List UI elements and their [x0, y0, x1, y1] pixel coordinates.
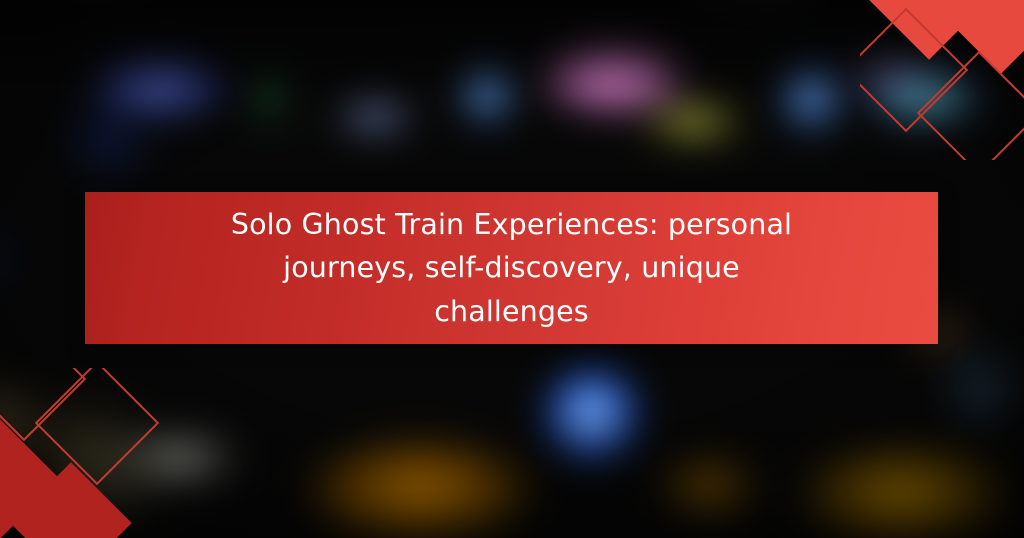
poster-canvas: Solo Ghost Train Experiences: personal j…	[0, 0, 1024, 538]
title-banner: Solo Ghost Train Experiences: personal j…	[85, 192, 938, 344]
page-title: Solo Ghost Train Experiences: personal j…	[212, 203, 812, 333]
